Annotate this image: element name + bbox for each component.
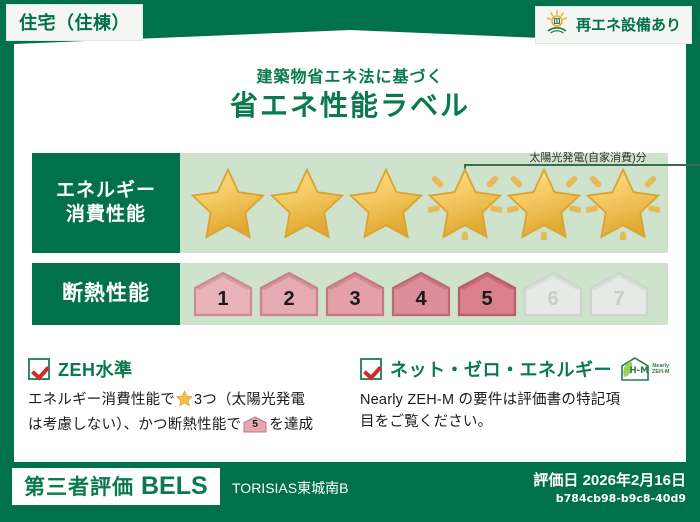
- svg-text:H-M: H-M: [629, 366, 648, 376]
- certificate-id: b784cb98-b9c8-40d9: [556, 492, 686, 505]
- insulation-performance-body: 1234567: [180, 263, 668, 325]
- net-zero-text-2: 目をご覧ください。: [360, 414, 492, 430]
- zeh-text-1: エネルギー消費性能で: [28, 392, 175, 408]
- building-type-label: 住宅（住棟）: [19, 13, 130, 33]
- zeh-text-4: を達成: [269, 417, 313, 433]
- evaluation-date: 評価日 2026年2月16日: [533, 469, 686, 490]
- insulation-level-number: 1: [192, 289, 254, 309]
- zeh-m-house-icon: H-M: [620, 356, 650, 382]
- zeh-text-3: は考慮しない）、かつ断熱性能で: [28, 417, 241, 433]
- inline-star-icon: [176, 390, 193, 414]
- energy-performance-caption: エネルギー 消費性能: [32, 153, 180, 253]
- insulation-caption-label: 断熱性能: [62, 281, 150, 307]
- renewable-equipment-badge: 再エネ設備あり: [535, 6, 692, 44]
- insulation-house-1: 1: [192, 271, 254, 317]
- zeh-m-caption-2: ZEH-M: [652, 369, 669, 375]
- star-1: [188, 153, 267, 253]
- solar-sun-icon: [544, 10, 570, 39]
- bels-logo-text: BELS: [141, 472, 208, 501]
- net-zero-header: ネット・ゼロ・エネルギー H-M Nearly ZEH-M: [360, 356, 672, 382]
- zeh-standard-title: ZEH水準: [58, 356, 133, 382]
- insulation-house-3: 3: [324, 271, 386, 317]
- energy-caption-line2: 消費性能: [66, 203, 146, 227]
- zeh-text-2: 3つ（太陽光発電: [194, 392, 305, 408]
- bels-certification-box: 第三者評価 BELS: [12, 468, 220, 505]
- zeh-m-caption-1: Nearly: [652, 363, 669, 369]
- star-2: [267, 153, 346, 253]
- insulation-performance-row: 断熱性能 1234567: [32, 263, 668, 325]
- insulation-level-scale: 1234567: [192, 263, 650, 325]
- inline-house-number: 5: [243, 420, 267, 430]
- star-rating: [188, 153, 668, 253]
- zeh-standard-header: ZEH水準: [28, 356, 344, 382]
- bels-energy-label: 住宅（住棟） 再エネ設備あり 建築物省エネ法に基づく 省エネ性能ラベル: [0, 0, 700, 522]
- third-party-eval-label: 第三者評価: [24, 471, 134, 501]
- insulation-level-number: 5: [456, 289, 518, 309]
- insulation-level-number: 7: [588, 289, 650, 309]
- insulation-level-number: 2: [258, 289, 320, 309]
- net-zero-title: ネット・ゼロ・エネルギー: [390, 356, 612, 382]
- star-5: [504, 153, 583, 253]
- energy-performance-row: エネルギー 消費性能 太陽光発電(自家消費)分: [32, 153, 668, 253]
- zeh-m-logo: H-M Nearly ZEH-M: [620, 356, 669, 382]
- energy-performance-body: 太陽光発電(自家消費)分: [180, 153, 668, 253]
- star-4: [425, 153, 504, 253]
- insulation-level-number: 4: [390, 289, 452, 309]
- building-type-chip: 住宅（住棟）: [6, 4, 143, 41]
- net-zero-description: Nearly ZEH-M の要件は評価書の特記項 目をご覧ください。: [360, 389, 672, 434]
- zeh-standard-block: ZEH水準 エネルギー消費性能で 3つ（太陽光発電 は考慮しない）、かつ断熱性能…: [28, 356, 344, 437]
- insulation-performance-caption: 断熱性能: [32, 263, 180, 325]
- insulation-level-number: 6: [522, 289, 584, 309]
- star-3: [346, 153, 425, 253]
- check-icon-net-zero: [360, 358, 382, 380]
- net-zero-energy-block: ネット・ゼロ・エネルギー H-M Nearly ZEH-M Nearly ZEH…: [360, 356, 672, 434]
- property-name: TORISIAS東城南B: [232, 478, 348, 498]
- insulation-house-4: 4: [390, 271, 452, 317]
- insulation-house-2: 2: [258, 271, 320, 317]
- renewable-badge-label: 再エネ設備あり: [576, 14, 681, 35]
- zeh-m-logo-caption: Nearly ZEH-M: [652, 363, 669, 376]
- insulation-house-6: 6: [522, 271, 584, 317]
- insulation-level-number: 3: [324, 289, 386, 309]
- inline-house-icon: 5: [243, 416, 267, 433]
- label-title: 省エネ性能ラベル: [0, 84, 700, 124]
- insulation-house-5: 5: [456, 271, 518, 317]
- check-icon-zeh-standard: [28, 358, 50, 380]
- insulation-house-7: 7: [588, 271, 650, 317]
- net-zero-text-1: Nearly ZEH-M の要件は評価書の特記項: [360, 392, 620, 408]
- zeh-standard-description: エネルギー消費性能で 3つ（太陽光発電 は考慮しない）、かつ断熱性能で 5 を達…: [28, 389, 344, 437]
- energy-caption-line1: エネルギー: [56, 179, 156, 203]
- star-6: [583, 153, 662, 253]
